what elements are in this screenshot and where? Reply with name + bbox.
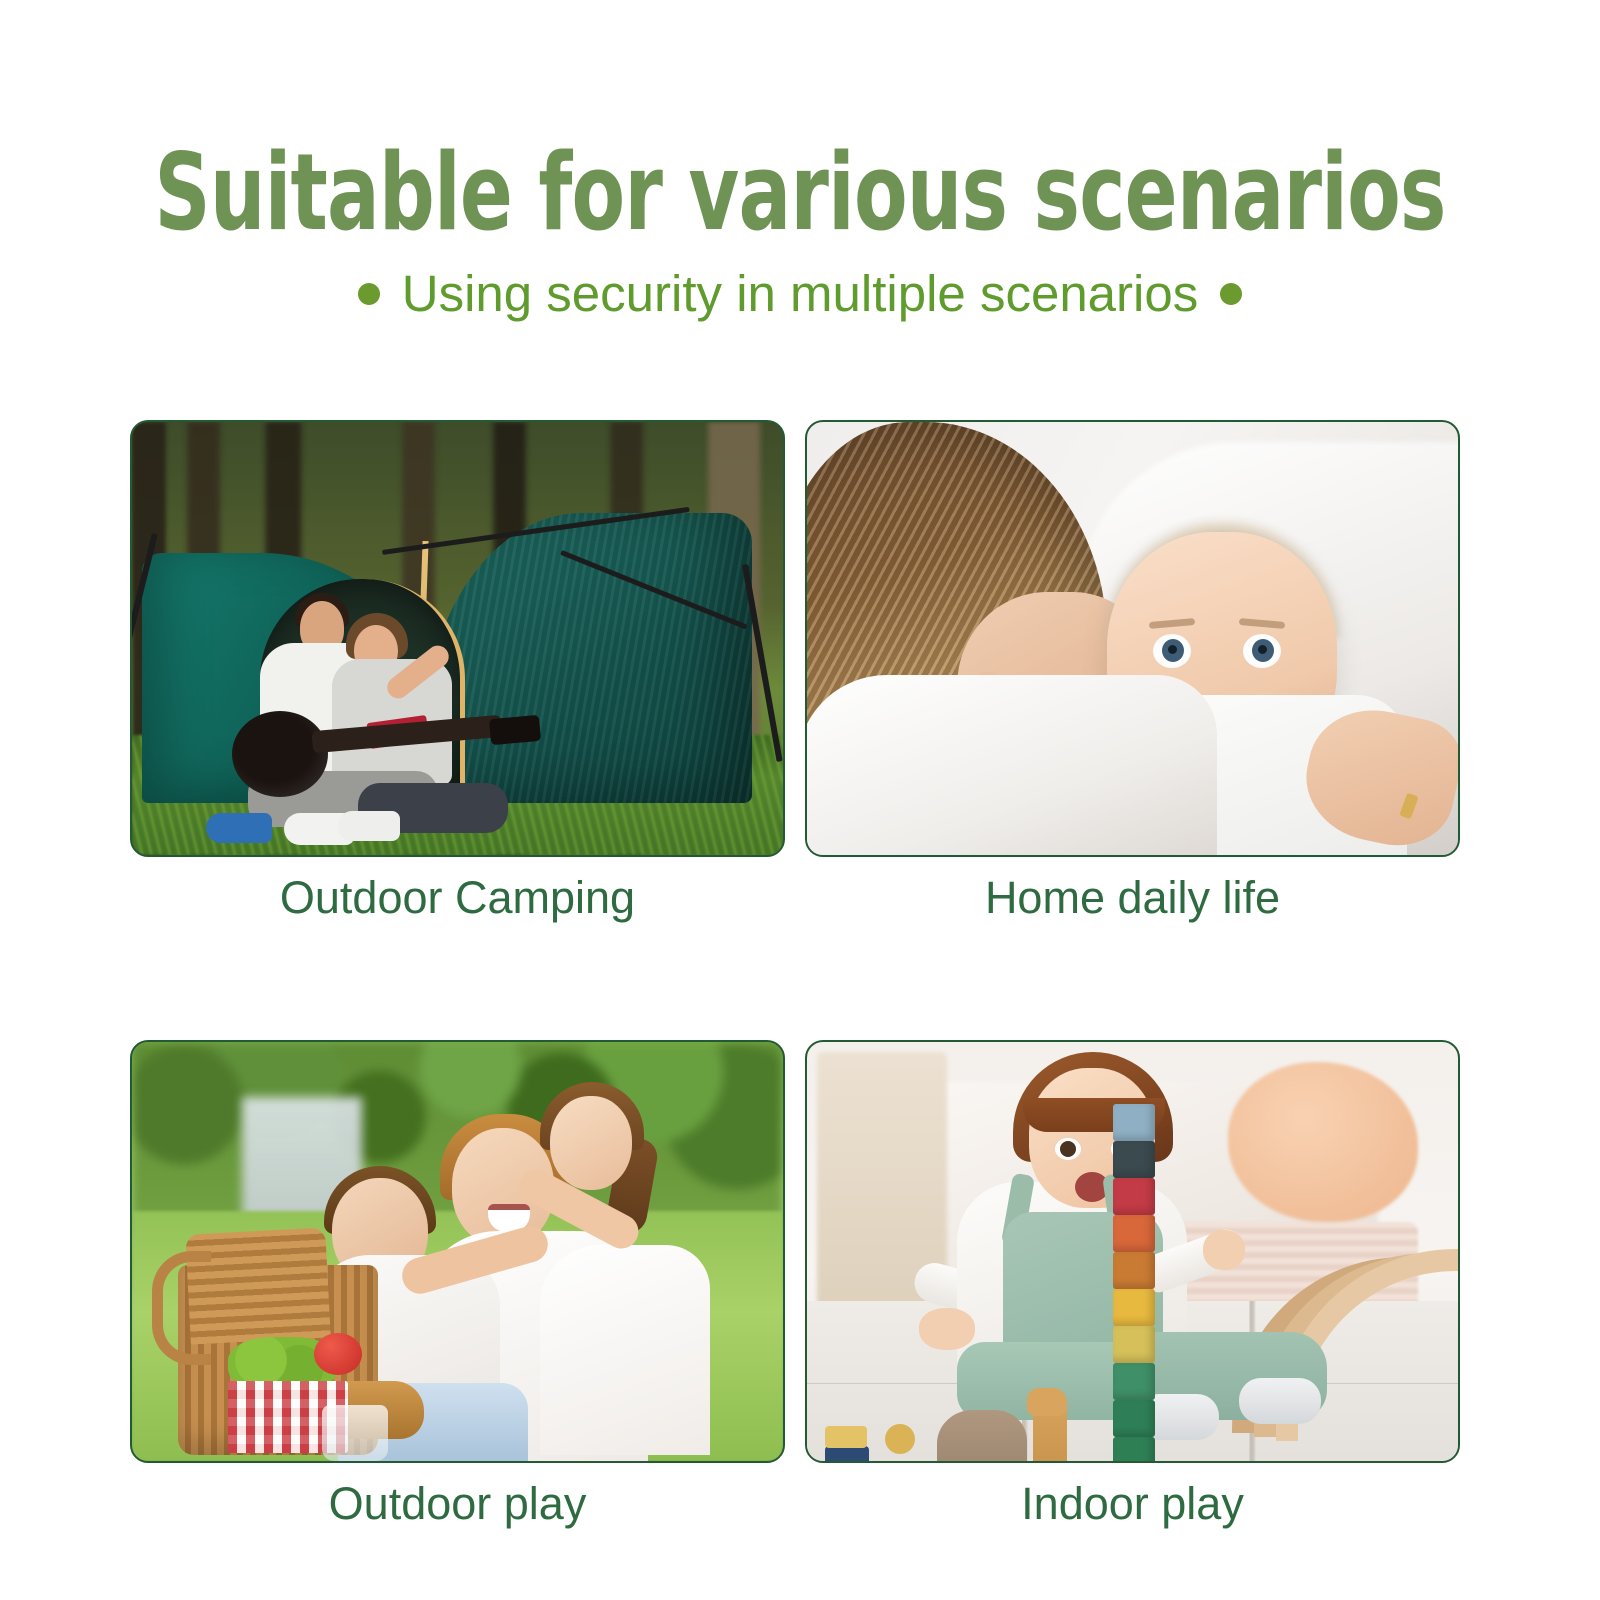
scenarios-page: Suitable for various scenarios Using sec… [0, 0, 1600, 1600]
scenario-card-outdoor-camping[interactable]: Outdoor Camping [130, 420, 785, 925]
baby-eye-right [1243, 634, 1281, 668]
loose-block-yellow [825, 1426, 867, 1448]
photo-home-daily-life [805, 420, 1460, 857]
page-title: Suitable for various scenarios [145, 0, 1455, 246]
tower-block-0 [1113, 1104, 1155, 1141]
child-hand-left [919, 1308, 975, 1350]
tower-block-1 [1113, 1141, 1155, 1178]
caption-outdoor-play: Outdoor play [130, 1477, 785, 1531]
tower-block-9 [1113, 1437, 1155, 1463]
bullet-dot-left-icon [358, 283, 380, 305]
tower-block-4 [1113, 1252, 1155, 1289]
mother-body [805, 675, 1217, 857]
guitar-body [232, 711, 328, 797]
photo-outdoor-camping [130, 420, 785, 857]
shoe-blue [206, 813, 272, 843]
tower-block-6 [1113, 1326, 1155, 1363]
child-shoe-right [1239, 1378, 1321, 1424]
subtitle-row: Using security in multiple scenarios [0, 264, 1600, 323]
girl-body [540, 1245, 710, 1455]
block-tower [1113, 1104, 1155, 1463]
tower-block-2 [1113, 1178, 1155, 1215]
photo-indoor-play [805, 1040, 1460, 1463]
tower-block-7 [1113, 1363, 1155, 1400]
caption-outdoor-camping: Outdoor Camping [130, 871, 785, 925]
scenario-card-indoor-play[interactable]: Indoor play [805, 1040, 1460, 1531]
child-hand-right [1203, 1230, 1245, 1270]
peach-cushion [1228, 1062, 1418, 1222]
photo-outdoor-play [130, 1040, 785, 1463]
shoe-white-right [338, 811, 400, 841]
tomato [314, 1333, 362, 1375]
picnic-basket-handle [152, 1251, 211, 1365]
baby-eye-left [1153, 634, 1191, 668]
loose-block-blue [825, 1446, 869, 1463]
page-header: Suitable for various scenarios Using sec… [0, 0, 1600, 323]
bullet-dot-right-icon [1220, 283, 1242, 305]
girl-head [550, 1096, 632, 1190]
page-subtitle: Using security in multiple scenarios [402, 264, 1198, 323]
child-eye-left [1055, 1138, 1081, 1160]
scenario-card-home-daily-life[interactable]: Home daily life [805, 420, 1460, 925]
tower-block-5 [1113, 1289, 1155, 1326]
toy-wheel [885, 1424, 915, 1454]
tower-block-8 [1113, 1400, 1155, 1437]
caption-home-daily-life: Home daily life [805, 871, 1460, 925]
scenario-grid: Outdoor Camping [130, 420, 1460, 1531]
guitar-headstock [489, 715, 541, 745]
glass-jar [322, 1405, 388, 1461]
tower-block-3 [1113, 1215, 1155, 1252]
scenario-card-outdoor-play[interactable]: Outdoor play [130, 1040, 785, 1531]
wooden-elephant-toy [937, 1410, 1027, 1463]
wooden-giraffe-toy [1033, 1392, 1067, 1463]
caption-indoor-play: Indoor play [805, 1477, 1460, 1531]
